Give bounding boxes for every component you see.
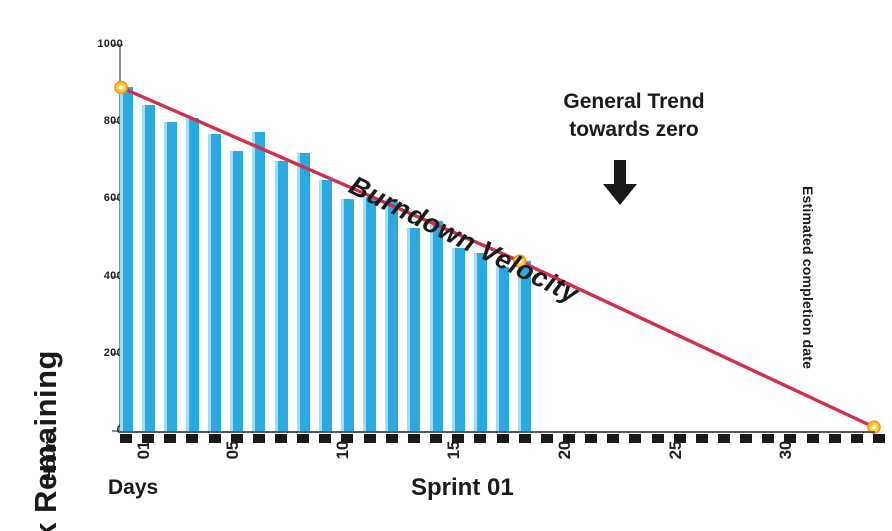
x-axis-dash xyxy=(740,434,752,443)
burndown-chart: 02004006008001000 01051015202530 Work Re… xyxy=(0,0,892,531)
bar xyxy=(407,228,420,431)
x-axis-dash xyxy=(829,434,841,443)
bar xyxy=(319,180,332,431)
bar xyxy=(275,161,288,431)
x-axis-dash xyxy=(497,434,509,443)
x-axis-dash xyxy=(164,434,176,443)
x-axis-dash xyxy=(873,434,885,443)
data-point-marker-center xyxy=(872,425,876,429)
bar xyxy=(252,132,265,431)
y-axis-tick-label-wrap: 800 xyxy=(62,115,123,129)
x-axis-dash xyxy=(696,434,708,443)
bar xyxy=(452,248,465,431)
x-axis-tick-label: 30 xyxy=(776,441,796,459)
y-axis-tick-label-wrap: 0 xyxy=(62,424,123,438)
bar xyxy=(230,151,243,431)
x-axis-line xyxy=(119,431,875,433)
y-axis-unit-label: Hours xyxy=(40,432,60,481)
y-axis-tick-label-wrap: 600 xyxy=(62,192,123,206)
x-axis-tick-label: 25 xyxy=(666,441,686,459)
bar xyxy=(186,118,199,431)
y-axis-tick-label-wrap: 400 xyxy=(62,270,123,284)
x-axis-tick-label: 20 xyxy=(555,441,575,459)
general-trend-annotation: General Trend towards zero xyxy=(534,88,734,144)
bar xyxy=(430,221,443,431)
bar xyxy=(341,199,354,431)
x-axis-dash xyxy=(209,434,221,443)
x-axis-dash xyxy=(474,434,486,443)
x-axis-dash xyxy=(585,434,597,443)
bar xyxy=(496,267,509,431)
bar xyxy=(208,134,221,431)
x-axis-dash xyxy=(762,434,774,443)
y-axis-tick-label: 800 xyxy=(83,115,123,127)
x-axis-tick-label: 15 xyxy=(444,441,464,459)
x-axis-title: Sprint 01 xyxy=(411,474,514,502)
bar xyxy=(363,197,376,431)
x-axis-dash xyxy=(408,434,420,443)
x-axis-dash xyxy=(319,434,331,443)
y-axis-tick-label: 400 xyxy=(83,270,123,282)
x-axis-dash xyxy=(807,434,819,443)
x-axis-dash xyxy=(120,434,132,443)
x-axis-dash xyxy=(275,434,287,443)
x-axis-tick-label: 01 xyxy=(134,441,154,459)
arrow-down-icon xyxy=(600,160,640,206)
y-axis-tick-label: 0 xyxy=(83,424,123,436)
general-trend-line-2: towards zero xyxy=(534,116,734,144)
y-axis-tick-label-wrap: 200 xyxy=(62,347,123,361)
y-axis-tick-label: 600 xyxy=(83,192,123,204)
x-axis-dash xyxy=(851,434,863,443)
bar xyxy=(385,199,398,431)
x-axis-dash xyxy=(186,434,198,443)
x-axis-dash xyxy=(607,434,619,443)
x-axis-dash xyxy=(430,434,442,443)
y-axis-tick-label: 200 xyxy=(83,347,123,359)
x-axis-tick-label: 05 xyxy=(223,441,243,459)
x-axis-dash xyxy=(541,434,553,443)
estimated-completion-date-annotation: Estimated completion date xyxy=(800,186,816,369)
y-axis-tick-label-wrap: 1000 xyxy=(62,38,123,52)
y-axis-tick-label: 1000 xyxy=(83,38,123,50)
x-axis-dash xyxy=(386,434,398,443)
bar xyxy=(164,122,177,431)
x-axis-dash xyxy=(297,434,309,443)
x-axis-dash xyxy=(364,434,376,443)
x-axis-dash xyxy=(652,434,664,443)
x-axis-unit-label: Days xyxy=(108,476,158,500)
general-trend-line-1: General Trend xyxy=(534,88,734,116)
x-axis-dash xyxy=(253,434,265,443)
bar xyxy=(120,87,133,431)
x-axis-dash xyxy=(718,434,730,443)
bar xyxy=(474,253,487,431)
x-axis-tick-label: 10 xyxy=(333,441,353,459)
bar xyxy=(142,105,155,431)
x-axis-dash xyxy=(519,434,531,443)
bar xyxy=(297,153,310,431)
x-axis-dash xyxy=(629,434,641,443)
